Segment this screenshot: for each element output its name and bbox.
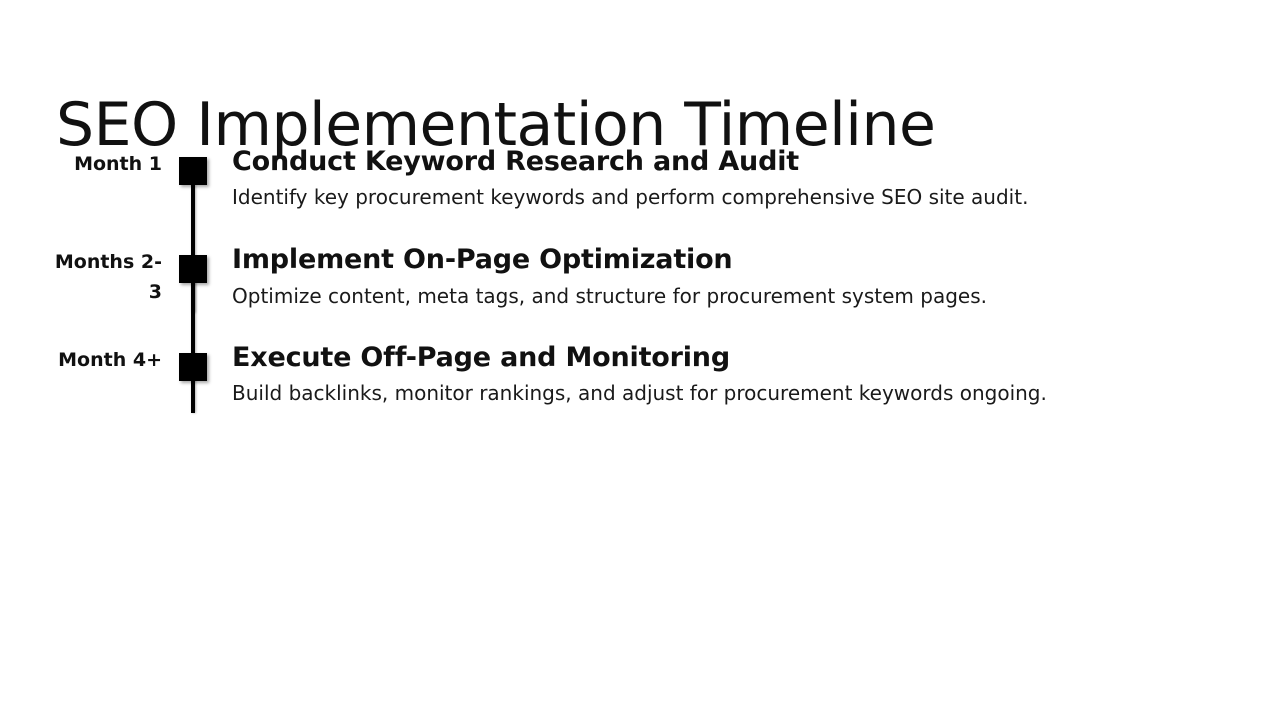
timeline: Month 1 Conduct Keyword Research and Aud…: [0, 146, 1280, 407]
square-marker-icon: [179, 157, 207, 185]
timeline-item-content: Conduct Keyword Research and Audit Ident…: [224, 146, 1280, 211]
timeline-item-description: Build backlinks, monitor rankings, and a…: [232, 380, 1280, 407]
timeline-item-heading: Execute Off-Page and Monitoring: [232, 342, 1280, 374]
timeline-item-description: Identify key procurement keywords and pe…: [232, 184, 1280, 211]
square-marker-icon: [179, 353, 207, 381]
timeline-period-label: Month 1: [50, 146, 162, 179]
timeline-rail: [162, 146, 224, 185]
timeline-period-label: Month 4+: [50, 342, 162, 375]
slide-canvas: SEO Implementation Timeline Month 1 Cond…: [0, 0, 1280, 720]
timeline-connector-line: [191, 283, 195, 413]
timeline-period-label: Months 2-3: [50, 244, 162, 307]
timeline-item: Month 1 Conduct Keyword Research and Aud…: [0, 146, 1280, 211]
square-marker-icon: [179, 255, 207, 283]
timeline-item-content: Implement On-Page Optimization Optimize …: [224, 244, 1280, 309]
timeline-item-description: Optimize content, meta tags, and structu…: [232, 283, 1280, 310]
timeline-item-heading: Conduct Keyword Research and Audit: [232, 146, 1280, 178]
timeline-item-content: Execute Off-Page and Monitoring Build ba…: [224, 342, 1280, 407]
timeline-item-heading: Implement On-Page Optimization: [232, 244, 1280, 276]
